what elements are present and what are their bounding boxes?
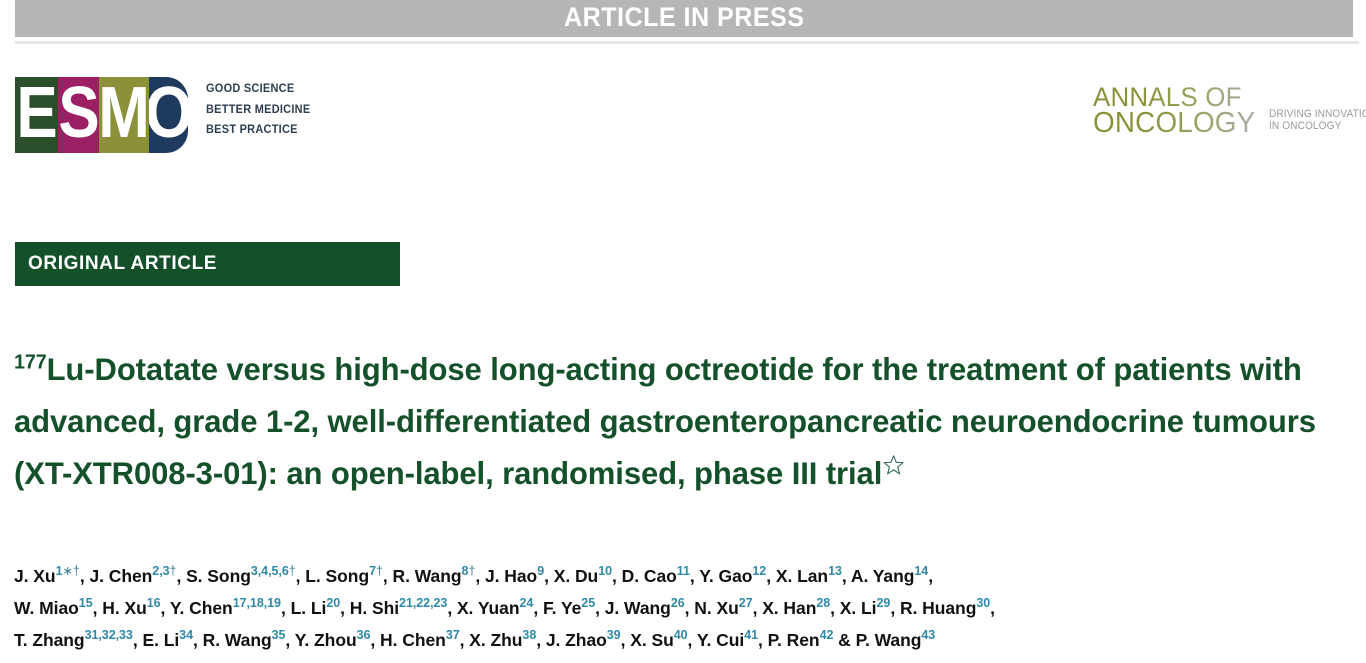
author-affiliation-superscript: 34	[179, 628, 193, 642]
author-affiliation-superscript: 12	[752, 564, 766, 578]
author-name: X. Du	[554, 566, 598, 586]
author-name: P. Wang	[856, 630, 922, 650]
article-in-press-banner: ARTICLE IN PRESS	[15, 0, 1353, 37]
author-affiliation-superscript: 37	[446, 628, 460, 642]
author-name: J. Zhao	[546, 630, 607, 650]
author-separator: ,	[285, 630, 294, 650]
author-name: X. Zhu	[469, 630, 522, 650]
author-name: R. Wang	[393, 566, 462, 586]
author-name: F. Ye	[543, 598, 581, 618]
author-affiliation-superscript: 21,22,23	[399, 596, 447, 610]
author-name: H. Chen	[380, 630, 446, 650]
author-affiliation-superscript: 3,4,5,6	[251, 564, 289, 578]
author-separator: ,	[830, 598, 840, 618]
annals-wordmark-line-2: ONCOLOGY	[1093, 110, 1255, 137]
author-name: X. Su	[630, 630, 674, 650]
author-name: T. Zhang	[14, 630, 85, 650]
author-affiliation-superscript: 39	[607, 628, 621, 642]
author-name: P. Ren	[768, 630, 820, 650]
author-affiliation-superscript: 13	[828, 564, 842, 578]
journal-article-header-page: ARTICLE IN PRESS E S M O GOOD SCIENCE BE…	[0, 0, 1366, 663]
esmo-letter-s-glyph: S	[58, 77, 99, 149]
author-name: R. Wang	[203, 630, 272, 650]
author-separator: ,	[890, 598, 900, 618]
author-separator: ,	[296, 566, 306, 586]
author-affiliation-superscript: 20	[326, 596, 340, 610]
author-separator: ,	[758, 630, 768, 650]
author-separator: ,	[928, 566, 933, 586]
esmo-logo-letter-s: S	[58, 77, 99, 153]
author-separator: &	[833, 630, 855, 650]
author-name: N. Xu	[694, 598, 738, 618]
author-list: J. Xu1∗†, J. Chen2,3†, S. Song3,4,5,6†, …	[14, 560, 1364, 656]
author-affiliation-superscript: 31,32,33	[85, 628, 133, 642]
author-separator: ,	[842, 566, 851, 586]
author-footnote-marker: ∗†	[62, 564, 79, 578]
author-name: J. Chen	[89, 566, 152, 586]
author-name: W. Miao	[14, 598, 79, 618]
author-affiliation-superscript: 40	[674, 628, 688, 642]
article-in-press-label: ARTICLE IN PRESS	[564, 4, 804, 33]
author-name: Y. Cui	[697, 630, 744, 650]
title-main-text: Lu-Dotatate versus high-dose long-acting…	[14, 351, 1316, 491]
author-name: H. Shi	[350, 598, 399, 618]
author-separator: ,	[595, 598, 605, 618]
author-name: Y. Gao	[699, 566, 752, 586]
author-name: X. Lan	[776, 566, 828, 586]
author-affiliation-superscript: 35	[272, 628, 286, 642]
author-name: H. Xu	[102, 598, 146, 618]
title-isotope-superscript: 177	[14, 352, 47, 374]
page-title: 177Lu-Dotatate versus high-dose long-act…	[14, 343, 1342, 499]
author-separator: ,	[447, 598, 457, 618]
author-affiliation-superscript: 24	[520, 596, 534, 610]
author-name: J. Xu	[14, 566, 56, 586]
author-name: J. Hao	[485, 566, 537, 586]
author-footnote-marker: †	[376, 564, 383, 578]
author-footnote-marker: †	[289, 564, 296, 578]
author-separator: ,	[176, 566, 186, 586]
author-separator: ,	[690, 566, 699, 586]
esmo-logo-letter-e: E	[15, 77, 58, 153]
author-separator: ,	[161, 598, 170, 618]
esmo-tagline: GOOD SCIENCE BETTER MEDICINE BEST PRACTI…	[206, 84, 316, 137]
author-affiliation-superscript: 36	[357, 628, 371, 642]
author-name: Y. Chen	[170, 598, 233, 618]
esmo-tagline-line-2: BETTER MEDICINE	[206, 105, 310, 117]
author-affiliation-superscript: 17,18,19	[233, 596, 281, 610]
author-affiliation-superscript: 27	[739, 596, 753, 610]
author-separator: ,	[281, 598, 291, 618]
author-affiliation-superscript: 16	[147, 596, 161, 610]
author-name: E. Li	[142, 630, 179, 650]
esmo-letter-o-glyph: O	[149, 77, 188, 149]
author-affiliation-superscript: 11	[677, 564, 690, 578]
author-separator: ,	[685, 598, 695, 618]
author-separator: ,	[544, 566, 554, 586]
author-separator: ,	[766, 566, 776, 586]
author-separator: ,	[383, 566, 393, 586]
section-type-banner: ORIGINAL ARTICLE	[15, 242, 400, 286]
author-affiliation-superscript: 38	[522, 628, 536, 642]
footnote-star-icon	[883, 454, 905, 476]
esmo-tagline-line-1: GOOD SCIENCE	[206, 84, 310, 96]
author-affiliation-superscript: 7	[369, 564, 376, 578]
annals-of-oncology-logo: ANNALS OF ONCOLOGY DRIVING INNOVATION IN…	[1093, 85, 1366, 137]
author-separator: ,	[753, 598, 763, 618]
author-separator: ,	[193, 630, 203, 650]
author-name: Y. Zhou	[295, 630, 357, 650]
esmo-logo-letter-o: O	[149, 77, 188, 153]
esmo-tagline-line-3: BEST PRACTICE	[206, 125, 310, 137]
author-affiliation-superscript: 15	[79, 596, 93, 610]
author-name: S. Song	[186, 566, 251, 586]
author-affiliation-superscript: 14	[914, 564, 928, 578]
section-type-label: ORIGINAL ARTICLE	[15, 253, 217, 275]
author-separator: ,	[990, 598, 995, 618]
author-separator: ,	[370, 630, 380, 650]
esmo-logo-letter-m: M	[99, 77, 149, 153]
author-separator: ,	[688, 630, 697, 650]
author-name: A. Yang	[851, 566, 915, 586]
author-separator: ,	[460, 630, 470, 650]
author-separator: ,	[536, 630, 546, 650]
author-separator: ,	[80, 566, 90, 586]
annals-tagline: DRIVING INNOVATION IN ONCOLOGY	[1269, 109, 1366, 133]
esmo-logo: E S M O	[15, 77, 188, 153]
author-name: J. Wang	[605, 598, 671, 618]
author-name: L. Song	[305, 566, 369, 586]
author-affiliation-superscript: 29	[877, 596, 891, 610]
annals-wordmark: ANNALS OF ONCOLOGY	[1093, 85, 1262, 137]
banner-underline-rule	[15, 41, 1359, 44]
author-affiliation-superscript: 43	[921, 628, 935, 642]
author-line-3: T. Zhang31,32,33, E. Li34, R. Wang35, Y.…	[14, 624, 1364, 656]
esmo-letter-e-glyph: E	[16, 77, 57, 149]
author-affiliation-superscript: 28	[816, 596, 830, 610]
author-affiliation-superscript: 25	[581, 596, 595, 610]
esmo-letter-m-glyph: M	[99, 77, 149, 149]
author-name: X. Li	[840, 598, 877, 618]
author-affiliation-superscript: 30	[976, 596, 990, 610]
annals-tagline-line-2: IN ONCOLOGY	[1269, 121, 1366, 133]
author-affiliation-superscript: 41	[744, 628, 758, 642]
author-name: X. Han	[762, 598, 816, 618]
author-affiliation-superscript: 10	[598, 564, 612, 578]
author-separator: ,	[533, 598, 543, 618]
author-affiliation-superscript: 2,3	[152, 564, 169, 578]
author-name: L. Li	[291, 598, 327, 618]
author-separator: ,	[621, 630, 631, 650]
author-line-2: W. Miao15, H. Xu16, Y. Chen17,18,19, L. …	[14, 592, 1364, 624]
author-affiliation-superscript: 26	[671, 596, 685, 610]
author-separator: ,	[612, 566, 622, 586]
author-separator: ,	[340, 598, 350, 618]
author-name: R. Huang	[900, 598, 976, 618]
author-affiliation-superscript: 42	[820, 628, 834, 642]
author-line-1: J. Xu1∗†, J. Chen2,3†, S. Song3,4,5,6†, …	[14, 560, 1364, 592]
author-name: X. Yuan	[457, 598, 520, 618]
author-separator: ,	[475, 566, 485, 586]
author-separator: ,	[93, 598, 103, 618]
author-name: D. Cao	[622, 566, 677, 586]
